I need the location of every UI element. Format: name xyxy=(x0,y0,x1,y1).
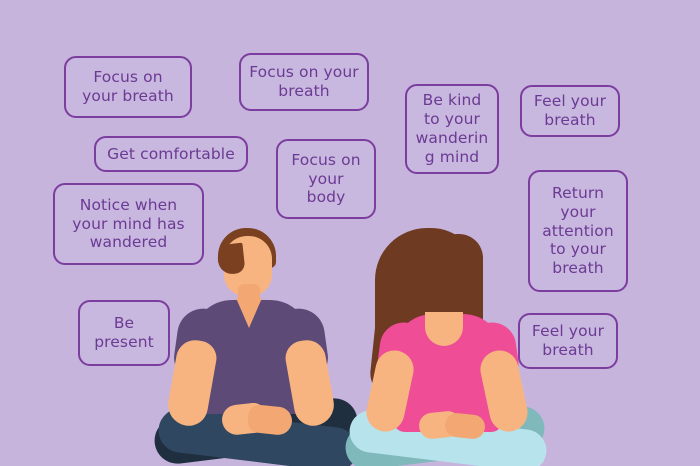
prompt-box-feel-breath-1: Feel your breath xyxy=(520,85,620,137)
prompt-box-focus-breath-2: Focus on your breath xyxy=(239,53,369,111)
meditating-man-figure xyxy=(150,228,370,466)
prompt-text: Be present xyxy=(94,314,154,352)
prompt-box-focus-breath-1: Focus on your breath xyxy=(64,56,192,118)
prompt-text: Focus on your breath xyxy=(249,63,359,101)
prompt-box-get-comfortable: Get comfortable xyxy=(94,136,248,172)
man-hair-fringe xyxy=(217,243,246,276)
prompt-box-focus-body: Focus on your body xyxy=(276,139,376,219)
prompt-text: Focus on your breath xyxy=(82,68,174,106)
prompt-text: Feel your breath xyxy=(534,92,606,130)
illustration-canvas: Focus on your breath Focus on your breat… xyxy=(0,0,700,466)
meditating-woman-figure xyxy=(345,228,560,466)
prompt-text: Be kind to your wanderin g mind xyxy=(416,91,489,167)
prompt-text: Get comfortable xyxy=(107,145,235,164)
man-hand-right xyxy=(247,404,294,436)
prompt-box-be-kind: Be kind to your wanderin g mind xyxy=(405,84,499,174)
prompt-text: Focus on your body xyxy=(291,151,360,208)
